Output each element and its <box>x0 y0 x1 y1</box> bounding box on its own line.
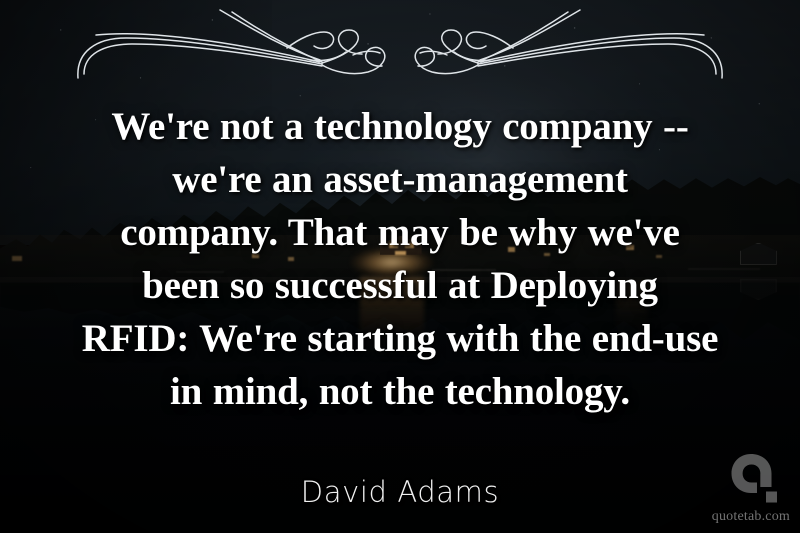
quote-author: David Adams <box>0 475 800 509</box>
flourish-divider-icon <box>70 8 730 88</box>
quote-card: We're not a technology company -- we're … <box>0 0 800 533</box>
quote-line: company. That may be why we've <box>50 206 750 259</box>
quote-text: We're not a technology company -- we're … <box>50 100 750 418</box>
quotetab-q-logo-icon <box>730 453 786 505</box>
quotetab-watermark[interactable]: quotetab.com <box>696 453 792 527</box>
quote-line: RFID: We're starting with the end-use <box>50 312 750 365</box>
quote-line: we're an asset-management <box>50 153 750 206</box>
card-content: We're not a technology company -- we're … <box>0 0 800 533</box>
quotetab-url-label: quotetab.com <box>696 509 790 525</box>
quote-line: We're not a technology company -- <box>50 100 750 153</box>
quote-line: been so successful at Deploying <box>50 259 750 312</box>
quote-line: in mind, not the technology. <box>50 365 750 418</box>
